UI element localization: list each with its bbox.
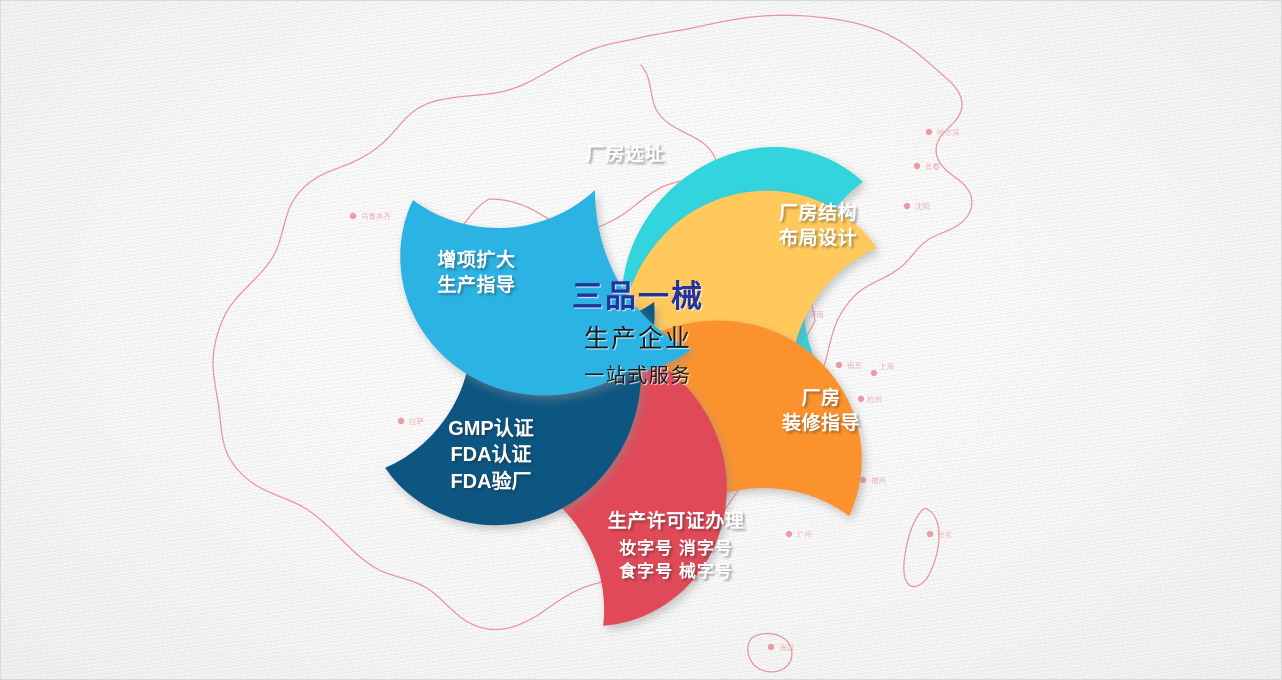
service-wheel [331,58,931,658]
petal-group [370,139,892,641]
infographic-canvas: 哈尔滨 长春 沈阳 北京 济南 郑州 南京 上海 杭州 武汉 福州 广州 台北 … [0,0,1282,680]
